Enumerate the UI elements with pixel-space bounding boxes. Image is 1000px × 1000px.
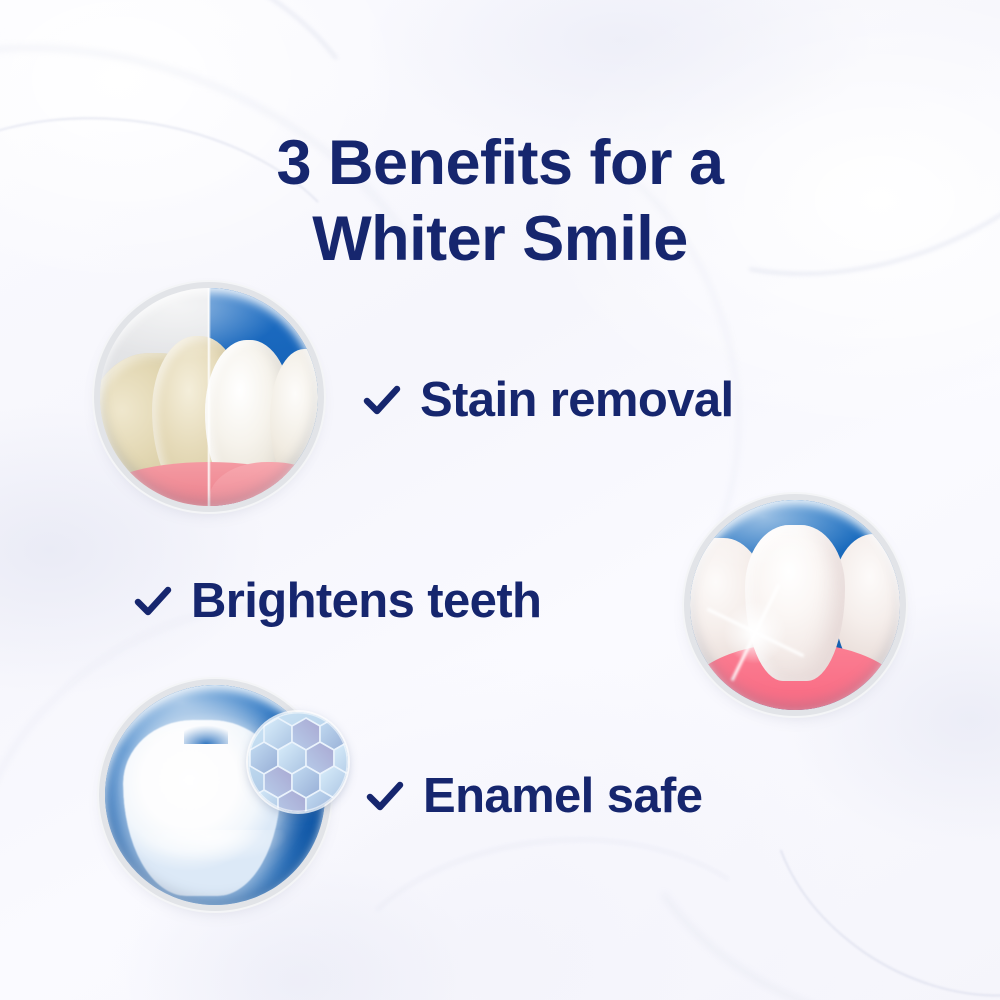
benefit-label-text: Enamel safe: [423, 768, 702, 824]
poster-canvas: 3 Benefits for a Whiter Smile Stain remo…: [0, 0, 1000, 1000]
benefit-label-text: Brightens teeth: [191, 573, 541, 629]
benefit-brightens-teeth: Brightens teeth: [133, 573, 541, 629]
check-icon: [365, 776, 405, 816]
page-title: 3 Benefits for a Whiter Smile: [0, 126, 1000, 277]
benefit-stain-removal: Stain removal: [362, 372, 734, 428]
hexagon-enamel-badge: [248, 712, 348, 812]
before-after-teeth-circle: [100, 288, 318, 506]
check-icon: [362, 380, 402, 420]
benefit-label-text: Stain removal: [420, 372, 734, 428]
page-title-line-1: 3 Benefits for a: [276, 128, 723, 198]
tooth-glow: [123, 830, 299, 900]
sparkle-icon: [719, 597, 790, 668]
before-after-divider: [207, 288, 211, 506]
check-icon: [133, 581, 173, 621]
bright-teeth-circle: [690, 500, 900, 710]
tooth-notch: [184, 718, 228, 744]
page-title-line-2: Whiter Smile: [0, 202, 1000, 278]
benefit-enamel-safe: Enamel safe: [365, 768, 702, 824]
